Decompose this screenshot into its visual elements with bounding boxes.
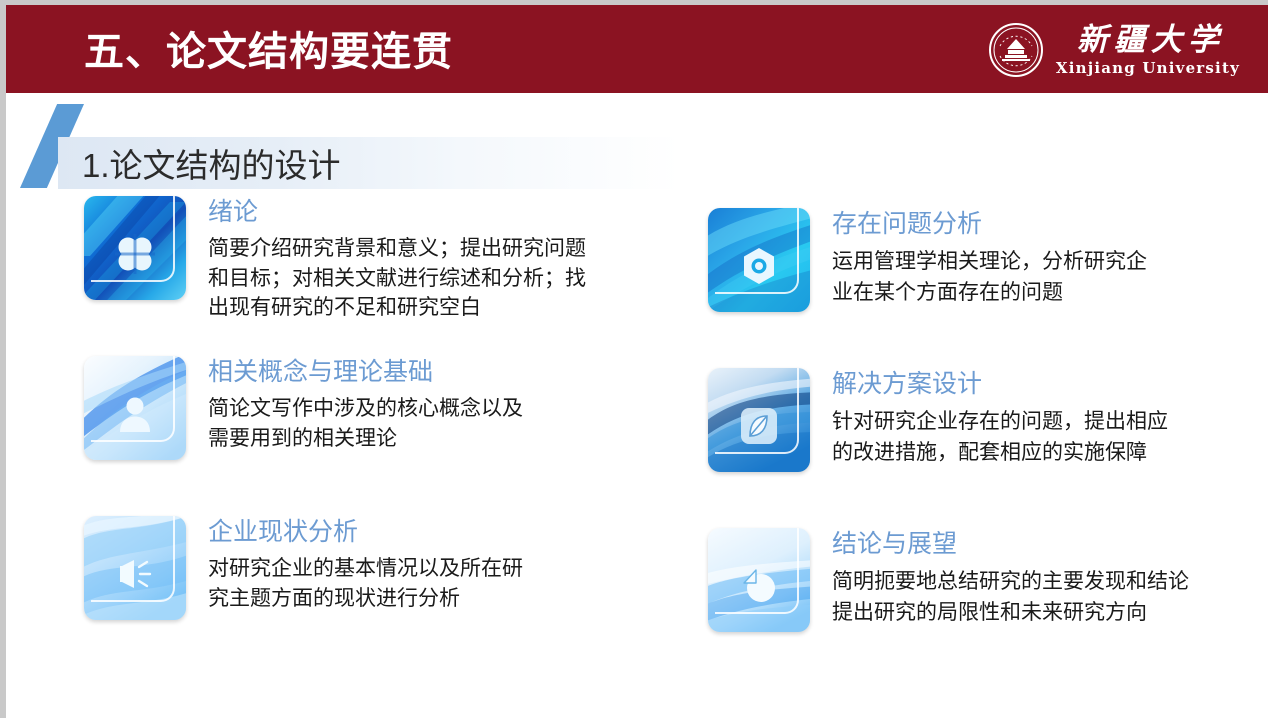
list-item: 绪论 简要介绍研究背景和意义；提出研究问题 和目标；对相关文献进行综述和分析；找… [84,196,684,334]
person-profile-icon [112,391,158,437]
speaker-sound-icon [112,551,158,597]
item-description-line: 简论文写作中涉及的核心概念以及 [208,394,684,424]
item-description-line: 究主题方面的现状进行分析 [208,584,684,614]
frame-left-strip [0,0,6,718]
university-name-en: Xinjiang University [1056,61,1240,76]
item-heading: 企业现状分析 [208,518,684,547]
item-description-line: 提出研究的局限性和未来研究方向 [832,597,1268,629]
item-text-block: 相关概念与理论基础 简论文写作中涉及的核心概念以及 需要用到的相关理论 [208,356,684,453]
item-description-line: 需要用到的相关理论 [208,424,684,454]
section-title: 1.论文结构的设计 [82,138,341,188]
list-item: 解决方案设计 针对研究企业存在的问题，提出相应 的改进措施，配套相应的实施保障 [708,368,1268,506]
item-text-block: 结论与展望 简明扼要地总结研究的主要发现和结论 提出研究的局限性和未来研究方向 [832,528,1268,629]
item-description-line: 对研究企业的基本情况以及所在研 [208,554,684,584]
leaf-pen-icon [736,403,782,449]
item-heading: 存在问题分析 [832,210,1268,239]
clover-four-petal-icon [112,231,158,277]
university-seal-icon [988,22,1044,78]
content-column-left: 绪论 简要介绍研究背景和意义；提出研究问题 和目标；对相关文献进行综述和分析；找… [84,196,684,676]
item-description-line: 的改进措施，配套相应的实施保障 [832,437,1268,469]
item-description: 简明扼要地总结研究的主要发现和结论 提出研究的局限性和未来研究方向 [832,566,1268,629]
item-text-block: 企业现状分析 对研究企业的基本情况以及所在研 究主题方面的现状进行分析 [208,516,684,613]
item-heading: 相关概念与理论基础 [208,358,684,387]
item-heading: 结论与展望 [832,530,1268,559]
item-description: 简论文写作中涉及的核心概念以及 需要用到的相关理论 [208,394,684,454]
item-heading: 绪论 [208,198,684,227]
item-icon-tile [708,208,810,312]
item-description: 简要介绍研究背景和意义；提出研究问题 和目标；对相关文献进行综述和分析；找 出现… [208,234,684,323]
item-icon-tile [708,528,810,632]
item-icon-tile [708,368,810,472]
university-logo: 新疆大学 Xinjiang University [988,19,1240,81]
item-description: 对研究企业的基本情况以及所在研 究主题方面的现状进行分析 [208,554,684,614]
slide-canvas: 五、论文结构要连贯 新疆大学 Xinjiang University [0,0,1268,718]
list-item: 结论与展望 简明扼要地总结研究的主要发现和结论 提出研究的局限性和未来研究方向 [708,528,1268,666]
page-title: 五、论文结构要连贯 [84,19,453,77]
item-description-line: 简要介绍研究背景和意义；提出研究问题 [208,234,684,264]
item-icon-tile [84,516,186,620]
item-description: 针对研究企业存在的问题，提出相应 的改进措施，配套相应的实施保障 [832,406,1268,469]
list-item: 企业现状分析 对研究企业的基本情况以及所在研 究主题方面的现状进行分析 [84,516,684,654]
item-heading: 解决方案设计 [832,370,1268,399]
slide-header: 五、论文结构要连贯 新疆大学 Xinjiang University [6,5,1268,93]
pie-chart-icon [736,563,782,609]
item-icon-tile [84,196,186,300]
list-item: 存在问题分析 运用管理学相关理论，分析研究企 业在某个方面存在的问题 [708,208,1268,346]
item-description-line: 出现有研究的不足和研究空白 [208,293,684,323]
university-name-cn: 新疆大学 [1071,25,1225,56]
item-description-line: 针对研究企业存在的问题，提出相应 [832,406,1268,438]
item-text-block: 解决方案设计 针对研究企业存在的问题，提出相应 的改进措施，配套相应的实施保障 [832,368,1268,469]
list-item: 相关概念与理论基础 简论文写作中涉及的核心概念以及 需要用到的相关理论 [84,356,684,494]
item-description-line: 业在某个方面存在的问题 [832,277,1268,309]
item-description-line: 运用管理学相关理论，分析研究企 [832,246,1268,278]
item-icon-tile [84,356,186,460]
item-description: 运用管理学相关理论，分析研究企 业在某个方面存在的问题 [832,246,1268,309]
item-description-line: 简明扼要地总结研究的主要发现和结论 [832,566,1268,598]
content-column-right: 存在问题分析 运用管理学相关理论，分析研究企 业在某个方面存在的问题 [708,208,1268,688]
item-text-block: 存在问题分析 运用管理学相关理论，分析研究企 业在某个方面存在的问题 [832,208,1268,309]
item-text-block: 绪论 简要介绍研究背景和意义；提出研究问题 和目标；对相关文献进行综述和分析；找… [208,196,684,323]
university-name: 新疆大学 Xinjiang University [1056,25,1240,76]
item-description-line: 和目标；对相关文献进行综述和分析；找 [208,264,684,294]
hex-nut-icon [736,243,782,289]
